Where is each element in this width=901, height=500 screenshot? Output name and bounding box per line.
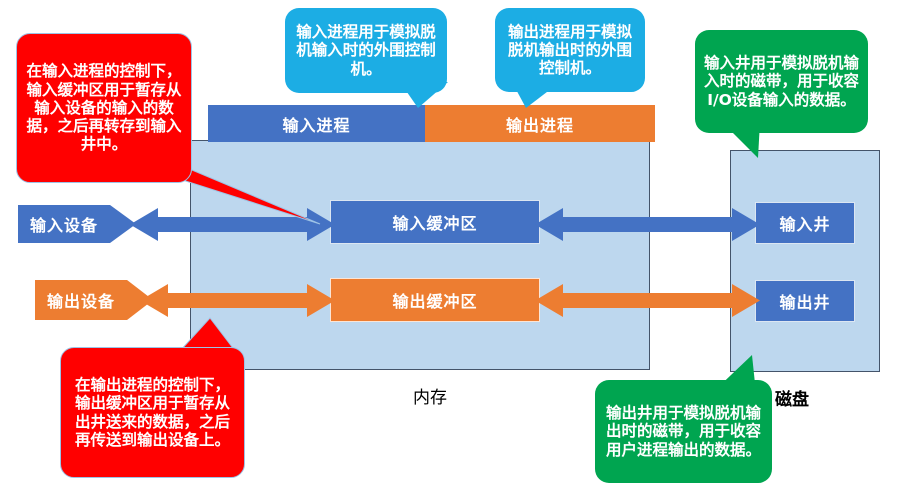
input-well-box[interactable]: 输入井 <box>755 202 855 244</box>
input-process-label: 输入进程 <box>282 112 350 136</box>
input-buffer-note[interactable]: 在输入进程的控制下，输入缓冲区用于暂存从输入设备的输入的数据，之后再转存到输入井… <box>16 33 192 183</box>
output-buffer-to-well-arrow <box>535 282 760 319</box>
input-buffer-label: 输入缓冲区 <box>392 210 477 234</box>
input-buffer-to-well-arrow <box>535 206 760 243</box>
output-buffer-label: 输出缓冲区 <box>392 288 477 312</box>
output-process-note[interactable]: 输出进程用于模拟脱机输出时的外围控制机。 <box>495 8 645 92</box>
input-process-bar[interactable]: 输入进程 <box>208 105 425 142</box>
output-well-note[interactable]: 输出井用于模拟脱机输出时的磁带，用于收容用户进程输出的数据。 <box>595 380 772 483</box>
output-buffer-note[interactable]: 在输出进程的控制下，输出缓冲区用于暂存从出井送来的数据，之后再传送到输出设备上。 <box>60 347 245 478</box>
input-device-box[interactable]: 输入设备 <box>18 205 136 243</box>
input-device-label: 输入设备 <box>30 212 98 236</box>
output-well-box[interactable]: 输出井 <box>755 280 855 322</box>
output-device-label: 输出设备 <box>47 288 115 312</box>
disk-region <box>730 150 880 372</box>
input-well-note[interactable]: 输入井用于模拟脱机输入时的磁带，用于收容I/O设备输入的数据。 <box>695 30 868 133</box>
output-buffer-box[interactable]: 输出缓冲区 <box>330 278 540 322</box>
input-process-note[interactable]: 输入进程用于模拟脱机输入时的外围控制机。 <box>285 8 447 93</box>
output-process-label: 输出进程 <box>506 112 574 136</box>
device-to-output-buffer-arrow <box>140 282 335 319</box>
disk-region-label: 磁盘 <box>775 385 855 410</box>
diagram-canvas: 内存 磁盘 输入进程 输出进程 输入设备 输出设备 输入缓冲区 输出缓冲区 输入… <box>0 0 901 500</box>
output-device-box[interactable]: 输出设备 <box>35 280 153 320</box>
memory-region-label: 内存 <box>380 383 480 408</box>
input-well-label: 输入井 <box>779 211 830 235</box>
input-buffer-box[interactable]: 输入缓冲区 <box>330 200 540 244</box>
output-well-label: 输出井 <box>779 289 830 313</box>
output-process-bar[interactable]: 输出进程 <box>425 105 655 142</box>
